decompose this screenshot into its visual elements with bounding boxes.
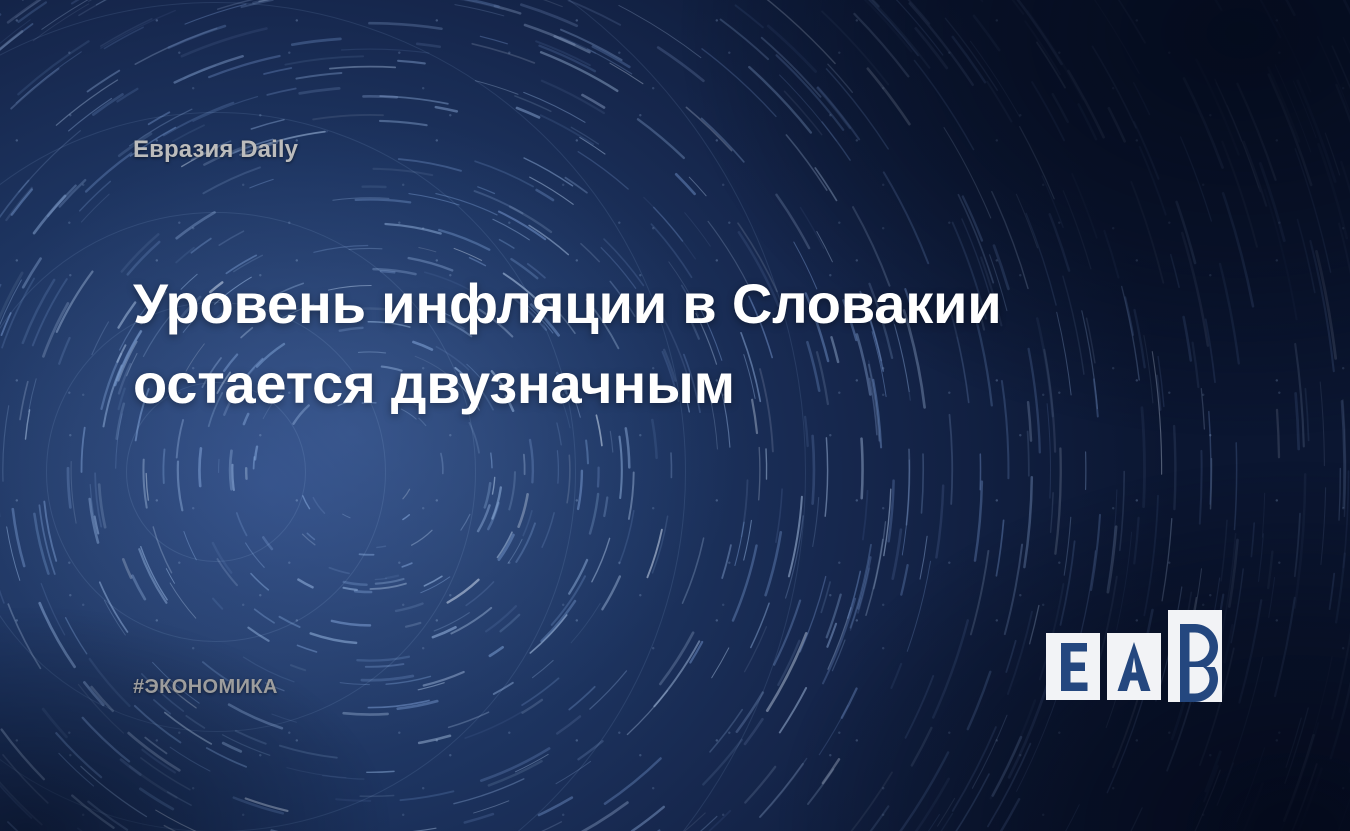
logo-tile-d-lower: [1168, 667, 1222, 702]
ead-logo[interactable]: [1046, 610, 1222, 702]
category-hashtag[interactable]: #ЭКОНОМИКА: [133, 676, 278, 699]
logo-tile-a: [1107, 633, 1161, 700]
logo-tile-e: [1046, 633, 1100, 700]
logo-tile-d-upper: [1168, 610, 1222, 667]
headline-title: Уровень инфляции в Словакии остается дву…: [133, 264, 1218, 424]
brand-name[interactable]: Евразия Daily: [133, 136, 298, 164]
social-share-card: Евразия Daily Уровень инфляции в Словаки…: [0, 0, 1350, 831]
card-content: Евразия Daily Уровень инфляции в Словаки…: [0, 0, 1350, 831]
